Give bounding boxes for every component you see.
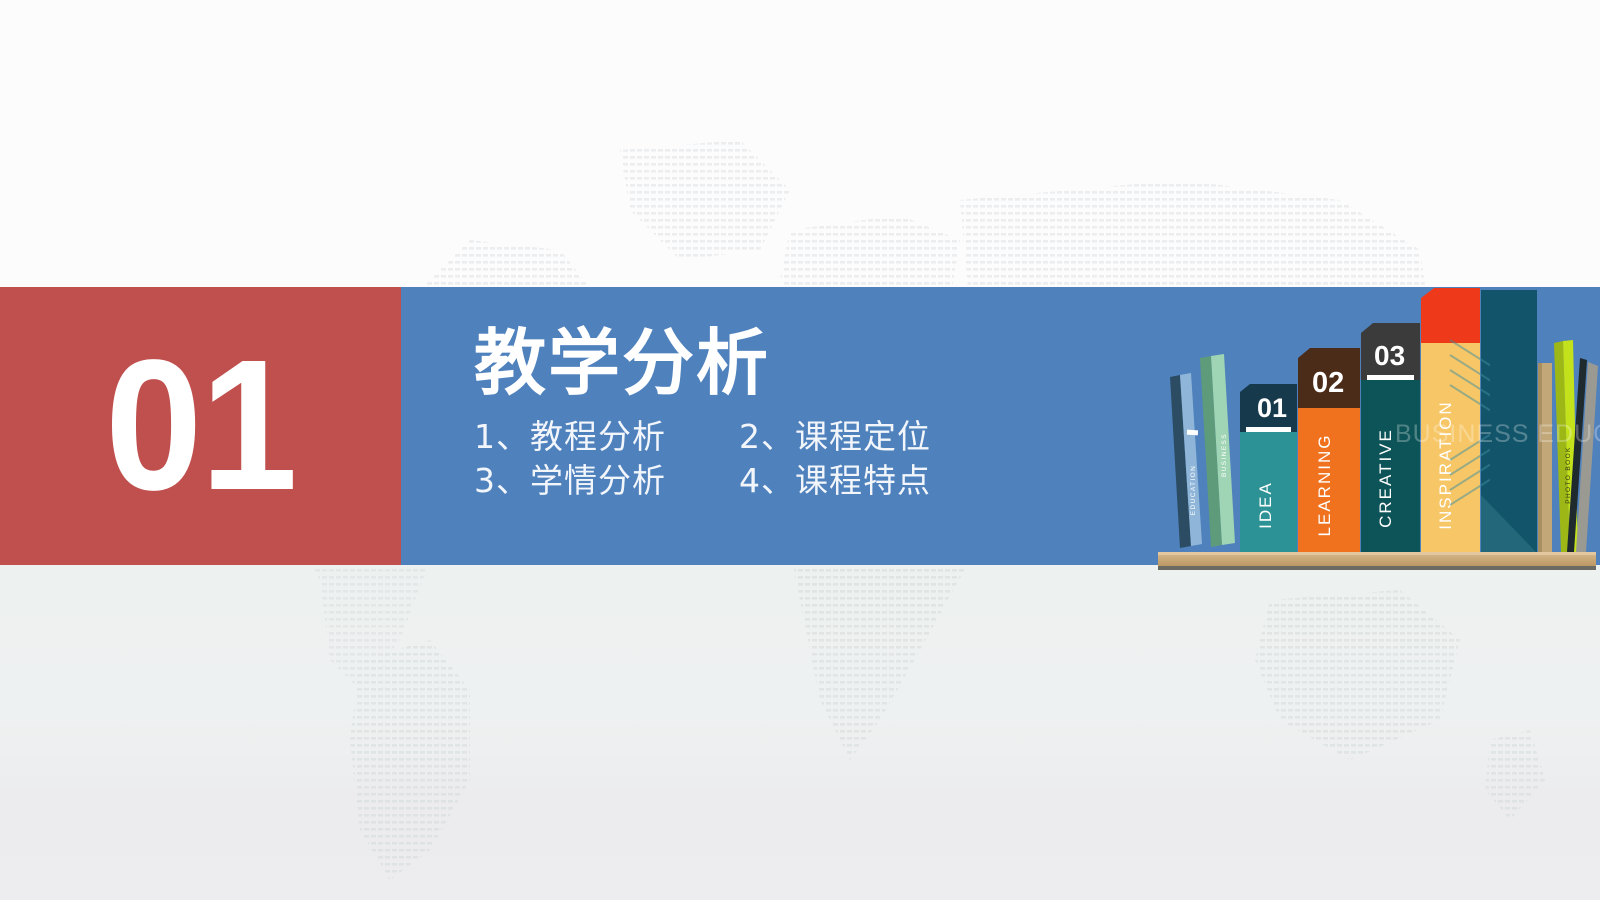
sub-item-list: 1、教程分析 2、课程定位 3、学情分析 4、课程特点 (474, 416, 1114, 502)
bookshelf-illustration: EDUCATION BUSINESS 01 IDEA 02 LEARNING (1150, 280, 1600, 575)
svg-text:INSPIRATION: INSPIRATION (1436, 400, 1455, 529)
sub-item-4: 4、课程特点 (739, 460, 1004, 502)
sub-item-3: 3、学情分析 (474, 460, 739, 502)
section-number: 01 (0, 287, 401, 565)
svg-text:03: 03 (1374, 340, 1405, 371)
page-title: 教学分析 (474, 326, 1114, 402)
title-block: 教学分析 1、教程分析 2、课程定位 3、学情分析 4、课程特点 (474, 326, 1114, 502)
svg-text:02: 02 (1312, 367, 1344, 399)
book-learning: 02 LEARNING (1298, 348, 1360, 552)
book-creative: 03 CREATIVE (1361, 323, 1420, 552)
book-education: EDUCATION (1170, 373, 1202, 548)
svg-text:BUSINESS: BUSINESS (1221, 433, 1228, 477)
book-tan (1538, 363, 1552, 552)
sub-item-2: 2、课程定位 (739, 416, 1004, 458)
svg-text:01: 01 (1257, 393, 1287, 423)
svg-text:LEARNING: LEARNING (1315, 434, 1334, 537)
presentation-slide: 01 教学分析 1、教程分析 2、课程定位 3、学情分析 4、课程特点 (0, 0, 1600, 900)
svg-text:EDUCATION: EDUCATION (1190, 465, 1197, 515)
book-idea: 01 IDEA (1240, 384, 1297, 552)
wooden-shelf (1158, 552, 1596, 570)
sub-item-1: 1、教程分析 (474, 416, 739, 458)
background-upper (0, 0, 1600, 287)
section-number-text: 01 (105, 346, 296, 506)
background-lower (0, 565, 1600, 900)
svg-text:IDEA: IDEA (1256, 481, 1275, 529)
book-business: BUSINESS (1200, 354, 1235, 547)
book-inspiration: INSPIRATION (1421, 288, 1480, 552)
svg-text:CREATIVE: CREATIVE (1376, 428, 1395, 528)
